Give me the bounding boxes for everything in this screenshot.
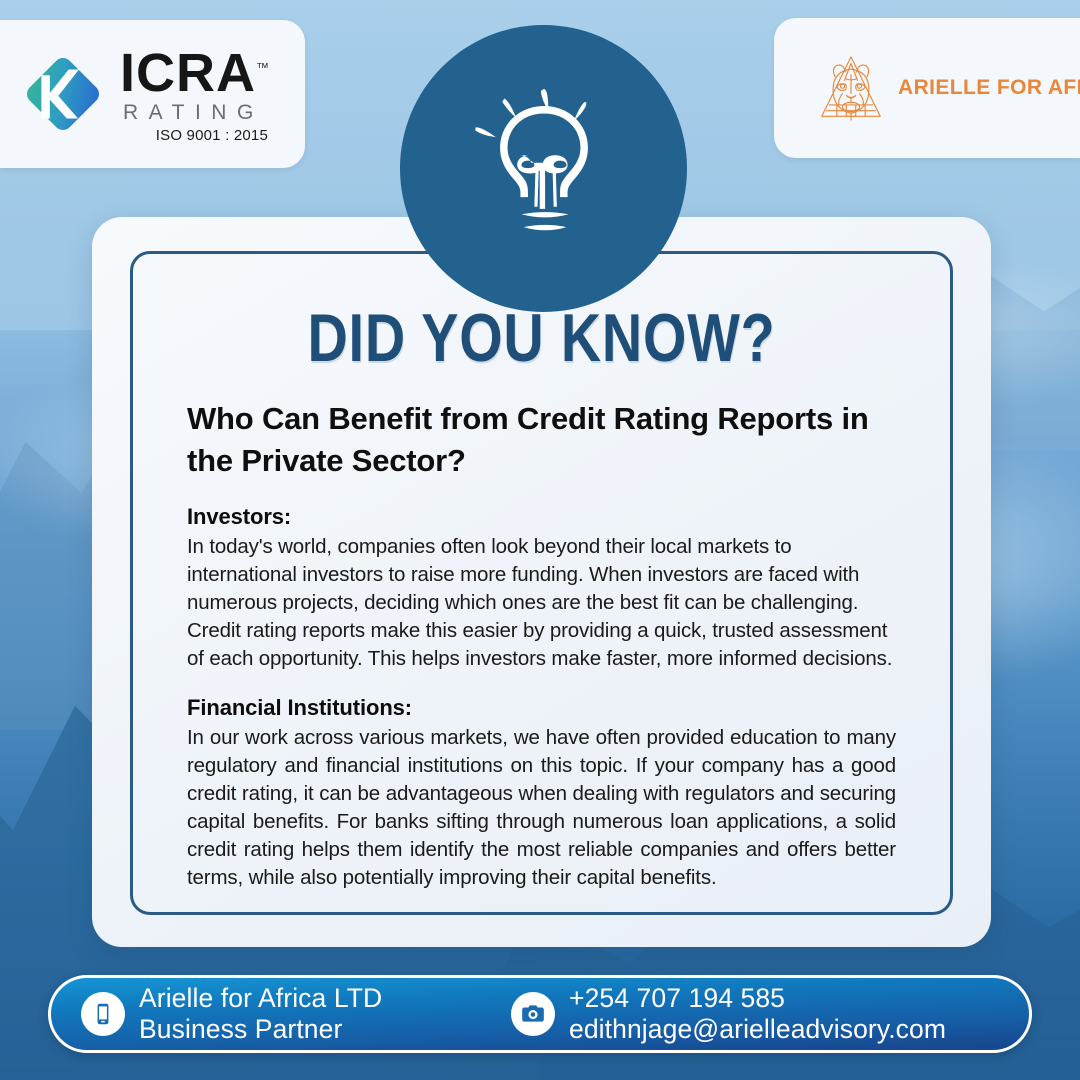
hero-badge [400, 25, 687, 312]
card-subtitle: Who Can Benefit from Credit Rating Repor… [187, 398, 896, 482]
lion-head-pyramid-logo-icon [818, 52, 884, 124]
arielle-wordmark: ARIELLE FOR AFRICA [898, 76, 1080, 100]
trademark-symbol: ™ [256, 60, 270, 75]
smartphone-icon [81, 992, 125, 1036]
page-title: DID YOU KNOW? [251, 304, 832, 372]
section-heading: Financial Institutions: [187, 695, 896, 721]
arielle-logo-plate: ARIELLE FOR AFRICA [774, 18, 1080, 158]
icra-wordmark: ICRA™ RATING ISO 9001 : 2015 [120, 44, 270, 144]
icra-diamond-k-logo-icon [16, 47, 110, 141]
icra-logo-plate: ICRA™ RATING ISO 9001 : 2015 [0, 20, 305, 168]
section-body: In our work across various markets, we h… [187, 724, 896, 892]
camera-icon [511, 992, 555, 1036]
content-card-inner-border: DID YOU KNOW? Who Can Benefit from Credi… [130, 251, 953, 915]
icra-name: ICRA [120, 43, 256, 103]
lightbulb-icon [469, 80, 619, 257]
contact-bar: Arielle for Africa LTD Business Partner … [48, 975, 1032, 1053]
icra-iso-certification: ISO 9001 : 2015 [120, 127, 270, 144]
section-heading: Investors: [187, 504, 896, 530]
contact-company: Arielle for Africa LTD Business Partner [51, 983, 503, 1044]
icra-tagline: RATING [120, 101, 270, 125]
contact-details: +254 707 194 585 edithnjage@arielleadvis… [503, 983, 946, 1044]
section-financial-institutions: Financial Institutions: In our work acro… [187, 695, 896, 892]
content-card: DID YOU KNOW? Who Can Benefit from Credi… [92, 217, 991, 947]
section-body: In today's world, companies often look b… [187, 533, 896, 673]
contact-email: edithnjage@arielleadvisory.com [569, 1014, 946, 1045]
section-investors: Investors: In today's world, companies o… [187, 504, 896, 673]
contact-phone: +254 707 194 585 [569, 983, 785, 1013]
contact-company-role: Business Partner [139, 1014, 382, 1045]
contact-company-name: Arielle for Africa LTD [139, 983, 382, 1013]
